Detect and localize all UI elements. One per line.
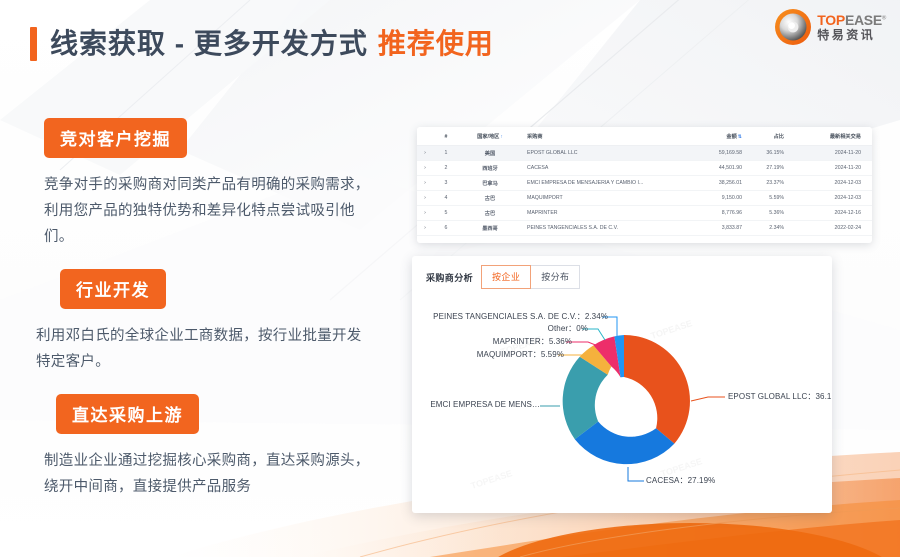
table-header: # 国家/地区↑ 采购商 金额⇅ 占比 最新相关交易 xyxy=(417,127,872,146)
page-title: 线索获取 - 更多开发方式推荐使用 xyxy=(30,27,494,61)
cell-country: 墨西哥 xyxy=(459,221,521,236)
watermark: TOPEASE xyxy=(650,318,694,341)
logo-wordmark: TOPEASE® 特易资讯 xyxy=(817,13,886,41)
cell-date: 2024-11-20 xyxy=(800,161,872,176)
logo-ring-icon xyxy=(774,8,812,46)
purchaser-table-card: # 国家/地区↑ 采购商 金额⇅ 占比 最新相关交易 › 1 美国 EPOST … xyxy=(417,127,872,243)
cell-country: 古巴 xyxy=(459,191,521,206)
logo-registered: ® xyxy=(882,15,886,21)
cell-purchaser[interactable]: CACESA xyxy=(521,161,686,176)
donut-segments xyxy=(563,335,690,464)
table-header-row: # 国家/地区↑ 采购商 金额⇅ 占比 最新相关交易 xyxy=(417,127,872,146)
cell-date: 2022-02-24 xyxy=(800,221,872,236)
badge-industry: 行业开发 xyxy=(60,269,166,309)
body-industry: 利用邓白氏的全球企业工商数据，按行业批量开发特定客户。 xyxy=(36,323,366,375)
segment-epost xyxy=(624,335,690,444)
cell-purchaser[interactable]: MAPRINTER xyxy=(521,206,686,221)
tab-by-company[interactable]: 按企业 xyxy=(481,265,531,289)
sort-asc-icon[interactable]: ↑ xyxy=(500,134,503,140)
cell-amount: 3,833.87 xyxy=(686,221,748,236)
cell-purchaser[interactable]: PEINES TANGENCIALES S.A. DE C.V. xyxy=(521,221,686,236)
logo-en-text: TOPEASE® xyxy=(817,13,886,27)
cell-purchaser[interactable]: MAQUIMPORT xyxy=(521,191,686,206)
body-upstream: 制造业企业通过挖掘核心采购商，直达采购源头，绕开中间商，直接提供产品服务 xyxy=(44,448,374,500)
cell-index: 4 xyxy=(433,191,459,206)
cell-amount: 9,150.00 xyxy=(686,191,748,206)
col-country[interactable]: 国家/地区↑ xyxy=(459,127,521,146)
cell-index: 2 xyxy=(433,161,459,176)
table-body: › 1 美国 EPOST GLOBAL LLC 59,169.58 36.15%… xyxy=(417,146,872,236)
chart-tab-group: 按企业 按分布 xyxy=(481,265,580,289)
cell-percent: 23.37% xyxy=(748,176,800,191)
sort-toggle-icon[interactable]: ⇅ xyxy=(738,134,742,140)
expand-icon[interactable]: › xyxy=(417,161,433,176)
col-latest-deal: 最新相关交易 xyxy=(800,127,872,146)
expand-icon[interactable]: › xyxy=(417,191,433,206)
cell-amount: 8,776.96 xyxy=(686,206,748,221)
expand-icon[interactable]: › xyxy=(417,206,433,221)
cell-date: 2024-12-03 xyxy=(800,191,872,206)
label-peines: PEINES TANGENCIALES S.A. DE C.V.：2.34% xyxy=(433,311,608,322)
cell-country: 西班牙 xyxy=(459,161,521,176)
cell-index: 1 xyxy=(433,146,459,161)
cell-amount: 38,256.01 xyxy=(686,176,748,191)
label-maprinter: MAPRINTER：5.36% xyxy=(493,336,572,347)
purchaser-analysis-card: 采购商分析 按企业 按分布 TOPEASE TOPEASE TOPEASE TO… xyxy=(412,256,832,513)
cell-purchaser[interactable]: EMCI EMPRESA DE MENSAJERIA Y CAMBIO I... xyxy=(521,176,686,191)
title-main-text: 线索获取 - 更多开发方式 xyxy=(50,28,368,59)
label-maquimport: MAQUIMPORT：5.59% xyxy=(477,349,564,360)
logo-cn-text: 特易资讯 xyxy=(817,29,886,41)
feature-block-competitor: 竞对客户挖掘 竞争对手的采购商对同类产品有明确的采购需求，利用您产品的独特优势和… xyxy=(0,118,400,250)
cell-percent: 5.59% xyxy=(748,191,800,206)
leader-epost xyxy=(691,397,725,401)
table-row[interactable]: › 1 美国 EPOST GLOBAL LLC 59,169.58 36.15%… xyxy=(417,146,872,161)
col-percent: 占比 xyxy=(748,127,800,146)
chart-card-header: 采购商分析 按企业 按分布 xyxy=(412,256,832,289)
cell-index: 6 xyxy=(433,221,459,236)
cell-amount: 59,169.58 xyxy=(686,146,748,161)
cell-date: 2024-11-20 xyxy=(800,146,872,161)
cell-country: 巴拿马 xyxy=(459,176,521,191)
label-epost: EPOST GLOBAL LLC：36.1… xyxy=(728,391,832,402)
cell-percent: 5.36% xyxy=(748,206,800,221)
label-other: Other：0% xyxy=(548,323,588,334)
badge-upstream: 直达采购上游 xyxy=(56,394,199,434)
cell-percent: 27.19% xyxy=(748,161,800,176)
cell-index: 5 xyxy=(433,206,459,221)
table-row[interactable]: › 6 墨西哥 PEINES TANGENCIALES S.A. DE C.V.… xyxy=(417,221,872,236)
table-row[interactable]: › 5 古巴 MAPRINTER 8,776.96 5.36% 2024-12-… xyxy=(417,206,872,221)
leader-cacesa xyxy=(628,467,644,481)
label-emci: EMCI EMPRESA DE MENS… xyxy=(430,400,540,409)
cell-country: 古巴 xyxy=(459,206,521,221)
cell-country: 美国 xyxy=(459,146,521,161)
cell-amount: 44,501.90 xyxy=(686,161,748,176)
feature-list: 竞对客户挖掘 竞争对手的采购商对同类产品有明确的采购需求，利用您产品的独特优势和… xyxy=(0,118,400,519)
feature-block-industry: 行业开发 利用邓白氏的全球企业工商数据，按行业批量开发特定客户。 xyxy=(0,269,400,375)
col-purchaser: 采购商 xyxy=(521,127,686,146)
col-index: # xyxy=(433,127,459,146)
cell-purchaser[interactable]: EPOST GLOBAL LLC xyxy=(521,146,686,161)
badge-competitor: 竞对客户挖掘 xyxy=(44,118,187,158)
col-expand xyxy=(417,127,433,146)
purchaser-table: # 国家/地区↑ 采购商 金额⇅ 占比 最新相关交易 › 1 美国 EPOST … xyxy=(417,127,872,236)
chart-title: 采购商分析 xyxy=(426,271,473,284)
col-country-label: 国家/地区 xyxy=(477,134,499,140)
logo-ease: EASE xyxy=(845,12,882,28)
feature-block-upstream: 直达采购上游 制造业企业通过挖掘核心采购商，直达采购源头，绕开中间商，直接提供产… xyxy=(0,394,400,500)
expand-icon[interactable]: › xyxy=(417,146,433,161)
cell-percent: 36.15% xyxy=(748,146,800,161)
col-amount[interactable]: 金额⇅ xyxy=(686,127,748,146)
title-accent-bar xyxy=(30,27,37,61)
body-competitor: 竞争对手的采购商对同类产品有明确的采购需求，利用您产品的独特优势和差异化特点尝试… xyxy=(44,172,374,250)
cell-index: 3 xyxy=(433,176,459,191)
logo-top: TOP xyxy=(817,12,845,28)
table-row[interactable]: › 2 西班牙 CACESA 44,501.90 27.19% 2024-11-… xyxy=(417,161,872,176)
cell-date: 2024-12-03 xyxy=(800,176,872,191)
table-row[interactable]: › 4 古巴 MAQUIMPORT 9,150.00 5.59% 2024-12… xyxy=(417,191,872,206)
cell-percent: 2.34% xyxy=(748,221,800,236)
donut-chart: TOPEASE TOPEASE TOPEASE TOPEASE xyxy=(412,289,832,509)
label-cacesa: CACESA：27.19% xyxy=(646,475,715,486)
topease-logo: TOPEASE® 特易资讯 xyxy=(774,8,886,46)
page-header: 线索获取 - 更多开发方式推荐使用 xyxy=(0,0,900,92)
title-accent-text: 推荐使用 xyxy=(378,28,494,59)
expand-icon[interactable]: › xyxy=(417,176,433,191)
col-amount-label: 金额 xyxy=(726,134,736,140)
cell-date: 2024-12-16 xyxy=(800,206,872,221)
tab-by-distribution[interactable]: 按分布 xyxy=(530,265,580,289)
expand-icon[interactable]: › xyxy=(417,221,433,236)
title-text: 线索获取 - 更多开发方式推荐使用 xyxy=(50,27,494,61)
watermark: TOPEASE xyxy=(470,468,514,491)
table-row[interactable]: › 3 巴拿马 EMCI EMPRESA DE MENSAJERIA Y CAM… xyxy=(417,176,872,191)
